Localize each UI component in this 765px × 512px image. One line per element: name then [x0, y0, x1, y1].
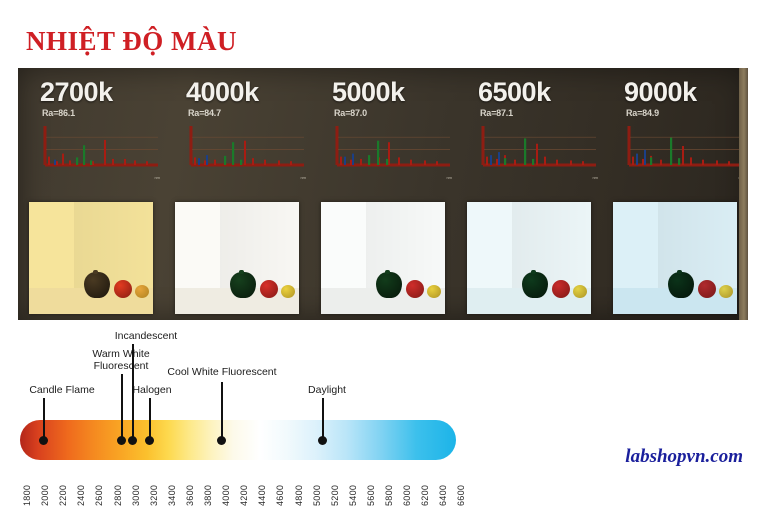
- kelvin-scale: Candle FlameWarm White FluorescentIncand…: [0, 326, 765, 494]
- tick-label: 2400: [76, 485, 86, 506]
- tick-label: 2000: [40, 485, 50, 506]
- spectrum-unit-6500k: nm: [592, 175, 598, 180]
- pepper-stem: [385, 270, 390, 274]
- cri-label-2700k: Ra=86.1: [42, 108, 75, 118]
- tick-label: 3000: [131, 485, 141, 506]
- yellow-lemon: [719, 285, 733, 298]
- spectral-power-distribution-4000k: nm: [188, 124, 308, 172]
- tick-label: 5000: [312, 485, 322, 506]
- scale-label-incandescent: Incandescent: [96, 330, 196, 342]
- comparison-board: 2700kRa=86.1nm4000kRa=84.7nm5000kRa=87.0…: [18, 68, 748, 320]
- tick-label: 2200: [58, 485, 68, 506]
- green-pepper: [376, 272, 402, 298]
- red-apple: [552, 280, 570, 298]
- tick-label: 5400: [348, 485, 358, 506]
- spectral-power-distribution-6500k: nm: [480, 124, 600, 172]
- temperature-label-5000k: 5000k: [332, 77, 405, 108]
- spectrum-unit-5000k: nm: [446, 175, 452, 180]
- page-title: NHIỆT ĐỘ MÀU: [26, 26, 237, 57]
- light-booth-photo-4000k: [175, 202, 299, 314]
- red-apple: [260, 280, 278, 298]
- red-apple: [406, 280, 424, 298]
- tick-label: 2800: [113, 485, 123, 506]
- spectrum-cell-5000k: 5000kRa=87.0nm: [310, 68, 456, 196]
- tick-label: 6000: [402, 485, 412, 506]
- light-booth-photo-2700k: [29, 202, 153, 314]
- spectral-power-distribution-2700k: nm: [42, 124, 162, 172]
- scale-label-daylight: Daylight: [292, 384, 362, 396]
- scale-tick-labels: 1800200022002400260028003000320034003600…: [0, 462, 765, 512]
- photo-row: [18, 196, 748, 320]
- pepper-stem: [677, 270, 682, 274]
- scale-label-cool-white-fluorescent: Cool White Fluorescent: [144, 366, 300, 378]
- tick-label: 5600: [366, 485, 376, 506]
- pepper-stem: [239, 270, 244, 274]
- spectrum-unit-2700k: nm: [154, 175, 160, 180]
- tick-label: 3400: [167, 485, 177, 506]
- leader-line: [121, 374, 123, 442]
- spectral-power-distribution-9000k: nm: [626, 124, 746, 172]
- tick-label: 4200: [239, 485, 249, 506]
- yellow-lemon: [573, 285, 587, 298]
- temperature-label-2700k: 2700k: [40, 77, 113, 108]
- temperature-label-4000k: 4000k: [186, 77, 259, 108]
- cri-label-6500k: Ra=87.1: [480, 108, 513, 118]
- yellow-lemon: [427, 285, 441, 298]
- spectrum-strip: 2700kRa=86.1nm4000kRa=84.7nm5000kRa=87.0…: [18, 68, 748, 196]
- tick-label: 4800: [294, 485, 304, 506]
- watermark: labshopvn.com: [625, 446, 743, 468]
- cri-label-9000k: Ra=84.9: [626, 108, 659, 118]
- green-pepper: [522, 272, 548, 298]
- color-temperature-infographic: NHIỆT ĐỘ MÀU 2700kRa=86.1nm4000kRa=84.7n…: [0, 0, 765, 494]
- temperature-label-9000k: 9000k: [624, 77, 697, 108]
- tick-label: 3800: [203, 485, 213, 506]
- yellow-lemon: [281, 285, 295, 298]
- spectrum-cell-2700k: 2700kRa=86.1nm: [18, 68, 164, 196]
- tick-label: 3200: [149, 485, 159, 506]
- tick-label: 5200: [330, 485, 340, 506]
- scale-label-halogen: Halogen: [117, 384, 187, 396]
- tick-label: 1800: [22, 485, 32, 506]
- color-temperature-gradient-bar: [20, 420, 456, 460]
- cri-label-4000k: Ra=84.7: [188, 108, 221, 118]
- red-apple: [114, 280, 132, 298]
- tick-label: 5800: [384, 485, 394, 506]
- pepper-stem: [93, 270, 98, 274]
- spectrum-cell-6500k: 6500kRa=87.1nm: [456, 68, 602, 196]
- tick-label: 2600: [94, 485, 104, 506]
- cri-label-5000k: Ra=87.0: [334, 108, 367, 118]
- red-apple: [698, 280, 716, 298]
- spectral-power-distribution-5000k: nm: [334, 124, 454, 172]
- spectrum-unit-4000k: nm: [300, 175, 306, 180]
- board-right-edge: [739, 68, 748, 320]
- green-pepper: [230, 272, 256, 298]
- light-booth-photo-5000k: [321, 202, 445, 314]
- green-pepper: [84, 272, 110, 298]
- green-pepper: [668, 272, 694, 298]
- tick-label: 6600: [456, 485, 466, 506]
- light-booth-photo-6500k: [467, 202, 591, 314]
- tick-label: 6400: [438, 485, 448, 506]
- light-booth-photo-9000k: [613, 202, 737, 314]
- tick-label: 4000: [221, 485, 231, 506]
- tick-label: 4400: [257, 485, 267, 506]
- leader-line: [132, 344, 134, 442]
- tick-label: 4600: [275, 485, 285, 506]
- spectrum-cell-9000k: 9000kRa=84.9nm: [602, 68, 748, 196]
- tick-label: 3600: [185, 485, 195, 506]
- scale-label-candle-flame: Candle Flame: [16, 384, 108, 396]
- leader-line: [221, 382, 223, 442]
- spectrum-cell-4000k: 4000kRa=84.7nm: [164, 68, 310, 196]
- temperature-label-6500k: 6500k: [478, 77, 551, 108]
- yellow-lemon: [135, 285, 149, 298]
- tick-label: 6200: [420, 485, 430, 506]
- pepper-stem: [531, 270, 536, 274]
